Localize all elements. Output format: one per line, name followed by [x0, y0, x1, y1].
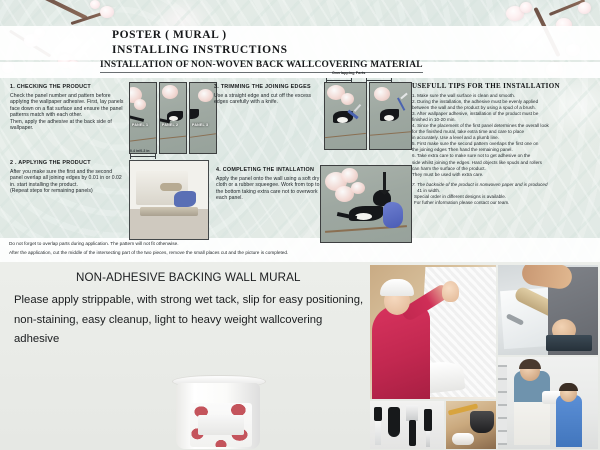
- step-3-body: Use a straight edge and cut off the exce…: [214, 93, 322, 106]
- panel-2: PANEL 2: [159, 82, 187, 154]
- step-4-completing-the-installation: 4. COMPLETING THE INTALLATION Apply the …: [216, 167, 326, 202]
- panel-1-label: PANEL 1: [132, 123, 148, 127]
- footer-notes: Do not forget to overlap parts during ap…: [9, 240, 591, 257]
- tool-smoother: [388, 407, 400, 443]
- step-1-heading: 1. CHECKING THE PRODUCT: [10, 84, 126, 90]
- overlap-rule-left: [326, 80, 352, 81]
- promo-title: NON-ADHESIVE BACKING WALL MURAL: [76, 271, 301, 284]
- overlapping-parts-label: Overlapping Parts: [332, 71, 365, 75]
- photo-collage: [370, 265, 598, 449]
- useful-tips-heading: USEFULL TIPS FOR THE INSTALLATION: [412, 82, 595, 90]
- step-4-heading: 4. COMPLETING THE INTALLATION: [216, 167, 326, 173]
- instruction-sheet-image: POSTER ( MURAL ) INSTALLING INSTRUCTIONS…: [0, 0, 600, 450]
- step-3-illustration-trimming: [324, 82, 412, 150]
- panel-2-label: PANEL 2: [162, 123, 178, 127]
- instructions-sheet: POSTER ( MURAL ) INSTALLING INSTRUCTIONS…: [0, 0, 600, 262]
- panel-dimension-rule: [130, 156, 156, 157]
- page-title: POSTER ( MURAL ) INSTALLING INSTRUCTIONS: [112, 28, 288, 58]
- photo-woman-hanging-wallpaper: [370, 265, 496, 399]
- adhesive-bucket-photo: [172, 375, 264, 449]
- promo-body: Please apply strippable, with strong wet…: [14, 291, 370, 350]
- step-1-checking-the-product: 1. CHECKING THE PRODUCT Check the panel …: [10, 84, 126, 132]
- tip-item-4: 4. Since the placement of the first pane…: [412, 123, 595, 141]
- bucket-label: [190, 403, 252, 447]
- panel-dimension-label: 0.4 in/0.2 in: [130, 149, 150, 153]
- step-4-body: Apply the panel onto the wall using a so…: [216, 176, 326, 202]
- title-line-1: POSTER ( MURAL ): [112, 28, 288, 43]
- step-2-heading: 2 . APPLYING THE PRODUCT: [10, 160, 126, 166]
- tip-item-3: 3. After wallpaper adhesive, installatio…: [412, 111, 595, 123]
- tip-item-6: 6. Take extra care to make sure not to g…: [412, 153, 595, 177]
- completed-mural-panel: [320, 165, 412, 243]
- panel-1: PANEL 1: [129, 82, 157, 154]
- bucket-label-plate: [198, 415, 244, 435]
- tool-knife: [424, 409, 432, 447]
- step-1-body: Check the panel number and pattern befor…: [10, 93, 126, 133]
- useful-tips-section: USEFULL TIPS FOR THE INSTALLATION 1. Mak…: [412, 82, 595, 206]
- tool-scraper: [406, 405, 418, 447]
- useful-tips-list: 1. Make sure the wall surface is clean a…: [412, 93, 595, 206]
- tool-brush: [374, 407, 382, 445]
- tip-item-2: 2. During the installation, the adhesive…: [412, 99, 595, 111]
- step-2-illustration-applying-paste: [129, 160, 209, 240]
- photo-wallpaper-tools: [370, 401, 444, 449]
- footer-note-2: After the application, cut the middle of…: [9, 249, 591, 258]
- tip-item-7-contact: For futher information please contact ou…: [412, 200, 595, 206]
- trim-panel-left: [324, 82, 367, 150]
- step-2-applying-the-product: 2 . APPLYING THE PRODUCT After you make …: [10, 160, 126, 195]
- bucket-body: [176, 383, 260, 449]
- panel-preview-three-panels: PANEL 1 PANEL 2 PANEL 3: [129, 82, 217, 154]
- title-line-2: INSTALLING INSTRUCTIONS: [112, 43, 288, 58]
- step-3-heading: 3. TRIMMING THE JOINING EDGES: [214, 84, 322, 90]
- title-band: [0, 26, 600, 60]
- step-4-illustration-squeegee: [320, 165, 412, 243]
- page-subtitle: INSTALLATION OF NON-WOVEN BACK WALLCOVER…: [100, 60, 423, 73]
- photo-paste-supplies: [446, 401, 496, 449]
- trim-panel-right: [369, 82, 412, 150]
- panel-3: PANEL 3: [189, 82, 217, 154]
- tip-item-5: 5. First make sure the second pattern ov…: [412, 141, 595, 153]
- step-3-trimming-the-joining-edges: 3. TRIMMING THE JOINING EDGES Use a stra…: [214, 84, 322, 106]
- overlap-rule-right: [366, 80, 392, 81]
- photo-applying-paste-with-roller: [498, 265, 598, 355]
- footer-note-1: Do not forget to overlap parts during ap…: [9, 240, 591, 249]
- panel-3-label: PANEL 3: [192, 123, 208, 127]
- step-2-body: After you make sure the first and the se…: [10, 169, 126, 195]
- photo-man-and-boy-installing: [498, 357, 598, 449]
